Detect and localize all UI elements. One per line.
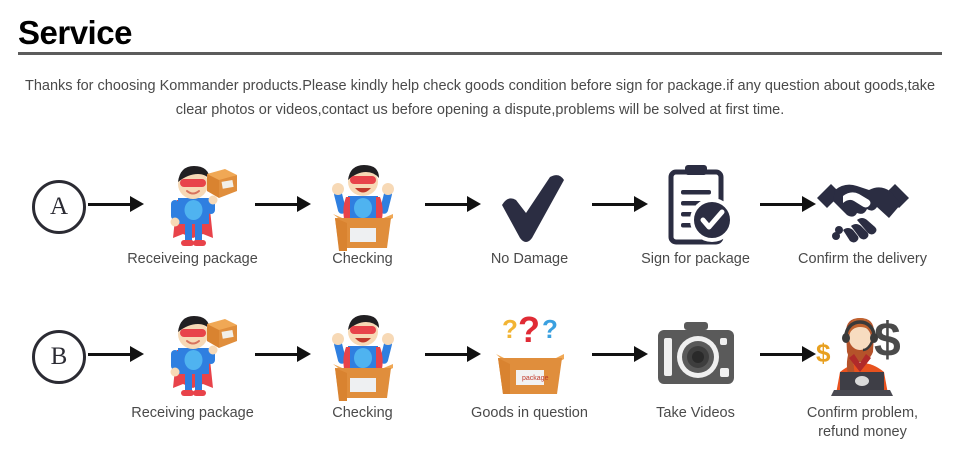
svg-text:?: ? [518,310,540,350]
header-divider [18,52,942,55]
flow-step: Take Videos [608,310,783,440]
person-in-box-icon [275,310,450,402]
flow-step: No Damage [442,160,617,290]
question-box-icon: ? ? ? package [442,310,617,402]
flow-row-a: A [0,160,960,290]
flow-badge-b: B [32,330,86,384]
flow-row-b: B [0,310,960,440]
intro-paragraph: Thanks for choosing Kommander products.P… [22,74,938,122]
flow-step: Receiving package [105,310,280,440]
camera-icon [608,310,783,402]
checkmark-icon [442,160,617,252]
flow-step-label: Sign for package [598,250,793,269]
flow-step-label: Checking [265,404,460,423]
person-in-box-icon [275,160,450,252]
flow-step: $ $ [775,310,950,440]
page-title: Service [18,14,132,52]
flow-step-label: Checking [265,250,460,269]
superhero-package-icon [105,160,280,252]
flow-step: Checking [275,310,450,440]
svg-text:?: ? [502,314,518,344]
flow-step-label: Confirm problem, refund money [765,404,960,442]
support-agent-money-icon: $ $ [775,310,950,402]
flow-step: Sign for package [608,160,783,290]
flow-step-label: Receiveing package [95,250,290,269]
flow-step-label: Confirm the delivery [765,250,960,269]
flow-step: Receiveing package [105,160,280,290]
svg-text:package: package [522,375,549,382]
flow-badge-a: A [32,180,86,234]
flow-step-label: Take Videos [598,404,793,423]
superhero-package-icon [105,310,280,402]
flow-step: Checking [275,160,450,290]
flow-step-label: Receiving package [95,404,290,423]
svg-text:?: ? [542,314,558,344]
handshake-icon [775,160,950,252]
clipboard-check-icon [608,160,783,252]
svg-text:$: $ [874,314,901,367]
svg-text:$: $ [816,338,831,368]
service-infographic: Service Thanks for choosing Kommander pr… [0,0,960,472]
flow-step: Confirm the delivery [775,160,950,290]
flow-step: ? ? ? package Goods in question [442,310,617,440]
